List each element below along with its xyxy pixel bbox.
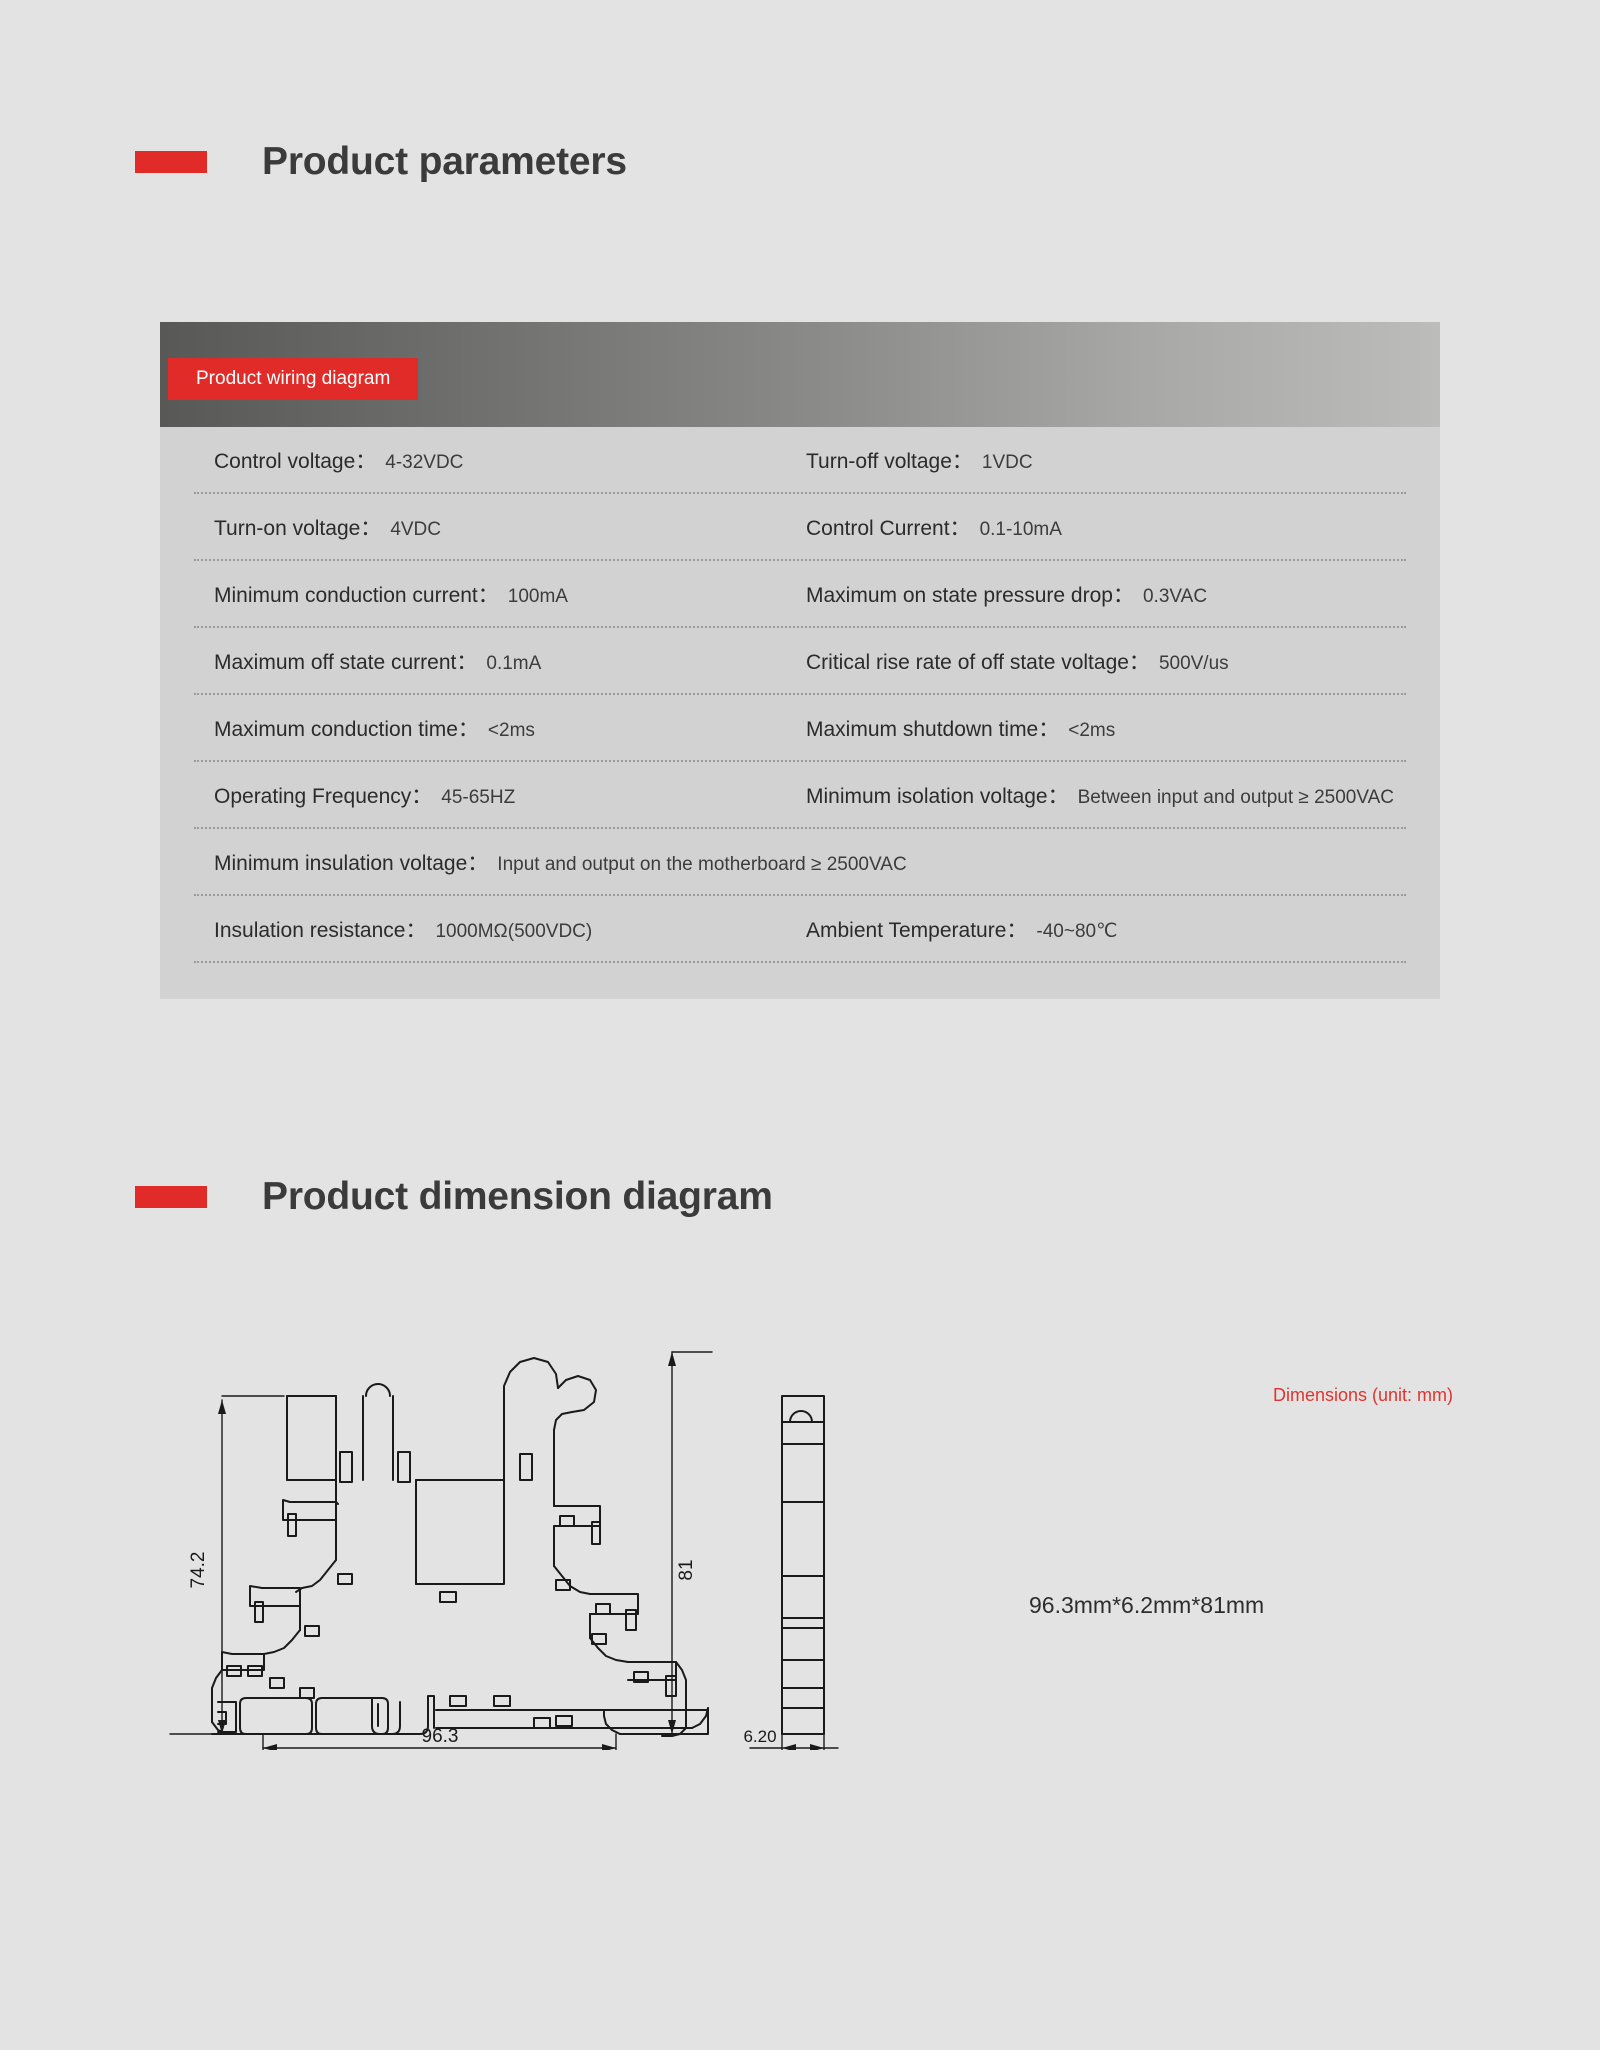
dimension-unit-note: Dimensions (unit: mm) xyxy=(1273,1385,1453,1406)
table-row: Turn-on voltage： 4VDC Control Current： 0… xyxy=(194,494,1406,561)
param-cell-maximum-off-state-current: Maximum off state current： 0.1mA xyxy=(194,646,800,676)
side-view-outline xyxy=(782,1396,824,1734)
param-cell-maximum-on-state-pressure-drop: Maximum on state pressure drop： 0.3VAC xyxy=(800,579,1406,609)
table-row: Maximum conduction time： <2ms Maximum sh… xyxy=(194,695,1406,762)
param-cell-control-current: Control Current： 0.1-10mA xyxy=(800,512,1406,542)
param-label: Maximum shutdown time： xyxy=(806,713,1059,743)
param-label: Critical rise rate of off state voltage： xyxy=(806,646,1150,676)
dimension-size-summary: 96.3mm*6.2mm*81mm xyxy=(1029,1592,1264,1619)
param-label: Minimum conduction current： xyxy=(214,579,499,609)
param-value: 4VDC xyxy=(390,519,441,541)
dimension-label-thickness: 6.20 xyxy=(743,1727,776,1746)
param-value: 100mA xyxy=(508,586,568,608)
param-label: Turn-off voltage： xyxy=(806,445,973,475)
dimension-label-height-right: 81 xyxy=(676,1559,697,1580)
param-label: Maximum on state pressure drop： xyxy=(806,579,1134,609)
param-value: 0.1-10mA xyxy=(980,519,1062,541)
param-value: -40~80℃ xyxy=(1036,920,1117,943)
table-row: Control voltage： 4-32VDC Turn-off voltag… xyxy=(194,427,1406,494)
param-label: Minimum insulation voltage： xyxy=(214,847,488,877)
param-cell-minimum-isolation-voltage: Minimum isolation voltage： Between input… xyxy=(800,780,1406,810)
parameter-table-header: Product wiring diagram xyxy=(160,322,1440,427)
param-label: Minimum isolation voltage： xyxy=(806,780,1069,810)
dimension-label-width: 96.3 xyxy=(422,1726,459,1747)
param-label: Insulation resistance： xyxy=(214,914,426,944)
parameter-table: Product wiring diagram Control voltage： … xyxy=(160,322,1440,999)
param-label: Operating Frequency： xyxy=(214,780,432,810)
param-value: Input and output on the motherboard ≥ 25… xyxy=(497,854,906,876)
table-row: Minimum conduction current： 100mA Maximu… xyxy=(194,561,1406,628)
table-row: Operating Frequency： 45-65HZ Minimum iso… xyxy=(194,762,1406,829)
param-value: 1000MΩ(500VDC) xyxy=(435,921,592,943)
section-heading-dimension: Product dimension diagram xyxy=(135,1175,773,1219)
param-label: Control Current： xyxy=(806,512,971,542)
param-cell-control-voltage: Control voltage： 4-32VDC xyxy=(194,445,800,475)
param-cell-ambient-temperature: Ambient Temperature： -40~80℃ xyxy=(800,914,1406,944)
param-value: 0.3VAC xyxy=(1143,586,1207,608)
param-cell-minimum-insulation-voltage: Minimum insulation voltage： Input and ou… xyxy=(194,847,1406,877)
param-value: 4-32VDC xyxy=(385,452,463,474)
table-row: Minimum insulation voltage： Input and ou… xyxy=(194,829,1406,896)
product-wiring-diagram-tag: Product wiring diagram xyxy=(168,358,418,400)
param-value: Between input and output ≥ 2500VAC xyxy=(1078,787,1394,809)
section-heading-parameters: Product parameters xyxy=(135,140,627,184)
param-cell-maximum-conduction-time: Maximum conduction time： <2ms xyxy=(194,713,800,743)
param-value: <2ms xyxy=(1068,720,1115,742)
red-accent-bar-icon xyxy=(135,151,207,173)
param-cell-critical-rise-rate: Critical rise rate of off state voltage：… xyxy=(800,646,1406,676)
param-value: 500V/us xyxy=(1159,653,1229,675)
param-cell-maximum-shutdown-time: Maximum shutdown time： <2ms xyxy=(800,713,1406,743)
red-accent-bar-icon xyxy=(135,1186,207,1208)
parameter-table-body: Control voltage： 4-32VDC Turn-off voltag… xyxy=(160,427,1440,999)
param-label: Ambient Temperature： xyxy=(806,914,1027,944)
param-label: Control voltage： xyxy=(214,445,376,475)
table-row: Maximum off state current： 0.1mA Critica… xyxy=(194,628,1406,695)
param-cell-operating-frequency: Operating Frequency： 45-65HZ xyxy=(194,780,800,810)
param-value: <2ms xyxy=(488,720,535,742)
param-value: 0.1mA xyxy=(486,653,541,675)
param-value: 45-65HZ xyxy=(441,787,515,809)
front-view-outline xyxy=(212,1354,708,1750)
param-label: Turn-on voltage： xyxy=(214,512,381,542)
param-cell-turn-on-voltage: Turn-on voltage： 4VDC xyxy=(194,512,800,542)
dimension-label-height-left: 74.2 xyxy=(188,1552,209,1589)
page-title-dimension: Product dimension diagram xyxy=(262,1175,773,1219)
param-label: Maximum off state current： xyxy=(214,646,477,676)
param-cell-insulation-resistance: Insulation resistance： 1000MΩ(500VDC) xyxy=(194,914,800,944)
table-row: Insulation resistance： 1000MΩ(500VDC) Am… xyxy=(194,896,1406,963)
param-label: Maximum conduction time： xyxy=(214,713,479,743)
param-cell-turn-off-voltage: Turn-off voltage： 1VDC xyxy=(800,445,1406,475)
page-title-parameters: Product parameters xyxy=(262,140,627,184)
param-value: 1VDC xyxy=(982,452,1033,474)
param-cell-minimum-conduction-current: Minimum conduction current： 100mA xyxy=(194,579,800,609)
